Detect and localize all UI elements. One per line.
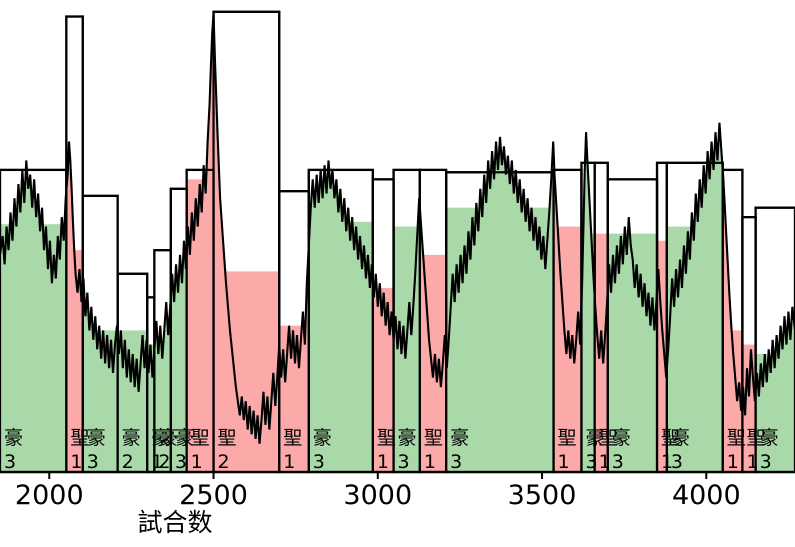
band-label-number: 1: [727, 451, 739, 473]
band-label-number: 3: [585, 451, 597, 473]
band-label-number: 1: [558, 451, 570, 473]
band-label-kanji: 豪: [671, 427, 690, 449]
x-axis-tick-label: 3500: [508, 480, 577, 511]
band-label-kanji: 豪: [122, 427, 141, 449]
band-label-kanji: 聖: [727, 427, 746, 449]
band-label-kanji: 聖: [377, 427, 396, 449]
band-label-kanji: 豪: [612, 427, 631, 449]
chart-canvas: 0020002500300035004000 豪3聖1豪3豪2豪1豪2豪3聖1聖…: [0, 0, 795, 547]
band-label-kanji: 豪: [450, 427, 469, 449]
band-label-kanji: 聖: [283, 427, 302, 449]
band-label-number: 1: [599, 451, 611, 473]
band-label-number: 1: [377, 451, 389, 473]
band-label-number: 3: [87, 451, 99, 473]
band-label-number: 1: [746, 451, 758, 473]
x-axis-title: 試合数: [137, 508, 212, 537]
chart-figure: 0020002500300035004000 豪3聖1豪3豪2豪1豪2豪3聖1聖…: [0, 0, 795, 547]
band-label-number: 1: [191, 451, 203, 473]
band-label-number: 3: [450, 451, 462, 473]
band-label-number: 1: [70, 451, 82, 473]
band-label-kanji: 豪: [760, 427, 779, 449]
x-axis-tick-label: 4000: [672, 480, 741, 511]
band-label-kanji: 豪: [313, 427, 332, 449]
band-label-number: 1: [283, 451, 295, 473]
band-label-number: 1: [424, 451, 436, 473]
band-label-number: 2: [122, 451, 134, 473]
x-axis-tick-label: 2000: [15, 480, 84, 511]
x-axis-tick-label: 00: [0, 480, 1, 511]
band-label-kanji: 聖: [191, 427, 210, 449]
band-label-kanji: 聖: [218, 427, 237, 449]
band-label-number: 3: [612, 451, 624, 473]
band-label-number: 3: [4, 451, 16, 473]
band-label-kanji: 豪: [87, 427, 106, 449]
band-label-kanji: 聖: [424, 427, 443, 449]
band-label-number: 3: [175, 451, 187, 473]
x-axis-tick-label: 3000: [343, 480, 412, 511]
band-label-kanji: 豪: [398, 427, 417, 449]
band-label-number: 3: [398, 451, 410, 473]
band-label-kanji: 聖: [558, 427, 577, 449]
band-label-number: 3: [760, 451, 772, 473]
band-label-number: 3: [671, 451, 683, 473]
band-label-number: 2: [158, 451, 170, 473]
x-axis-tick-label: 2500: [179, 480, 248, 511]
band-label-kanji: 豪: [4, 427, 23, 449]
band-label-number: 2: [218, 451, 230, 473]
band-label-number: 3: [313, 451, 325, 473]
